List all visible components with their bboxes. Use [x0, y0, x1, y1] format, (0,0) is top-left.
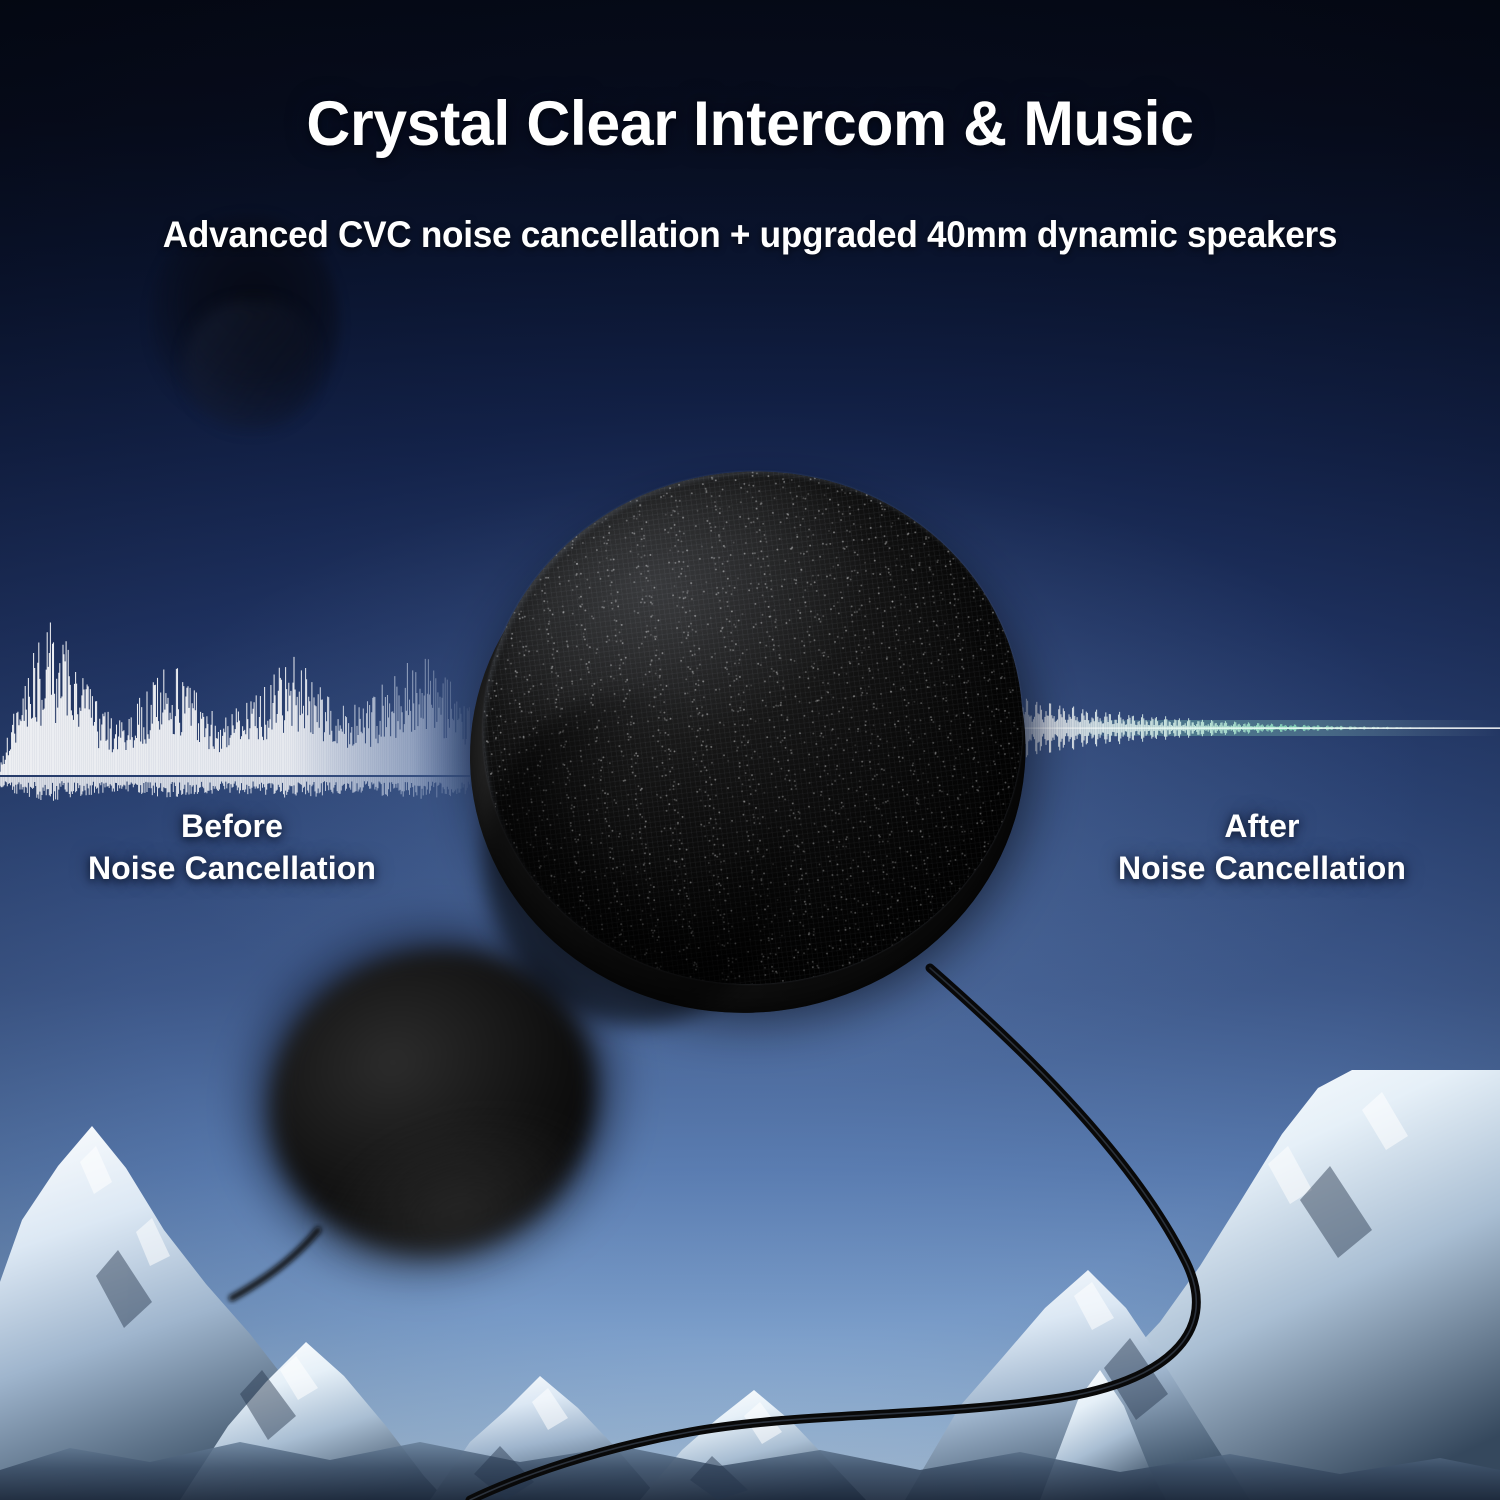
label-after-line1: After [1052, 806, 1472, 848]
label-before-line1: Before [22, 806, 442, 848]
label-before-line2: Noise Cancellation [22, 848, 442, 890]
page-title: Crystal Clear Intercom & Music [26, 88, 1474, 160]
page-subtitle: Advanced CVC noise cancellation + upgrad… [38, 214, 1463, 256]
label-after-line2: Noise Cancellation [1052, 848, 1472, 890]
speaker-driver-main [431, 433, 1073, 1059]
product-marketing-image: Crystal Clear Intercom & Music Advanced … [0, 0, 1500, 1500]
label-before-noise-cancellation: Before Noise Cancellation [22, 806, 442, 889]
cable-secondary [232, 1230, 318, 1298]
label-after-noise-cancellation: After Noise Cancellation [1052, 806, 1472, 889]
speaker-mesh-sheen [454, 441, 1052, 1015]
speaker-mesh-face [454, 441, 1052, 1015]
